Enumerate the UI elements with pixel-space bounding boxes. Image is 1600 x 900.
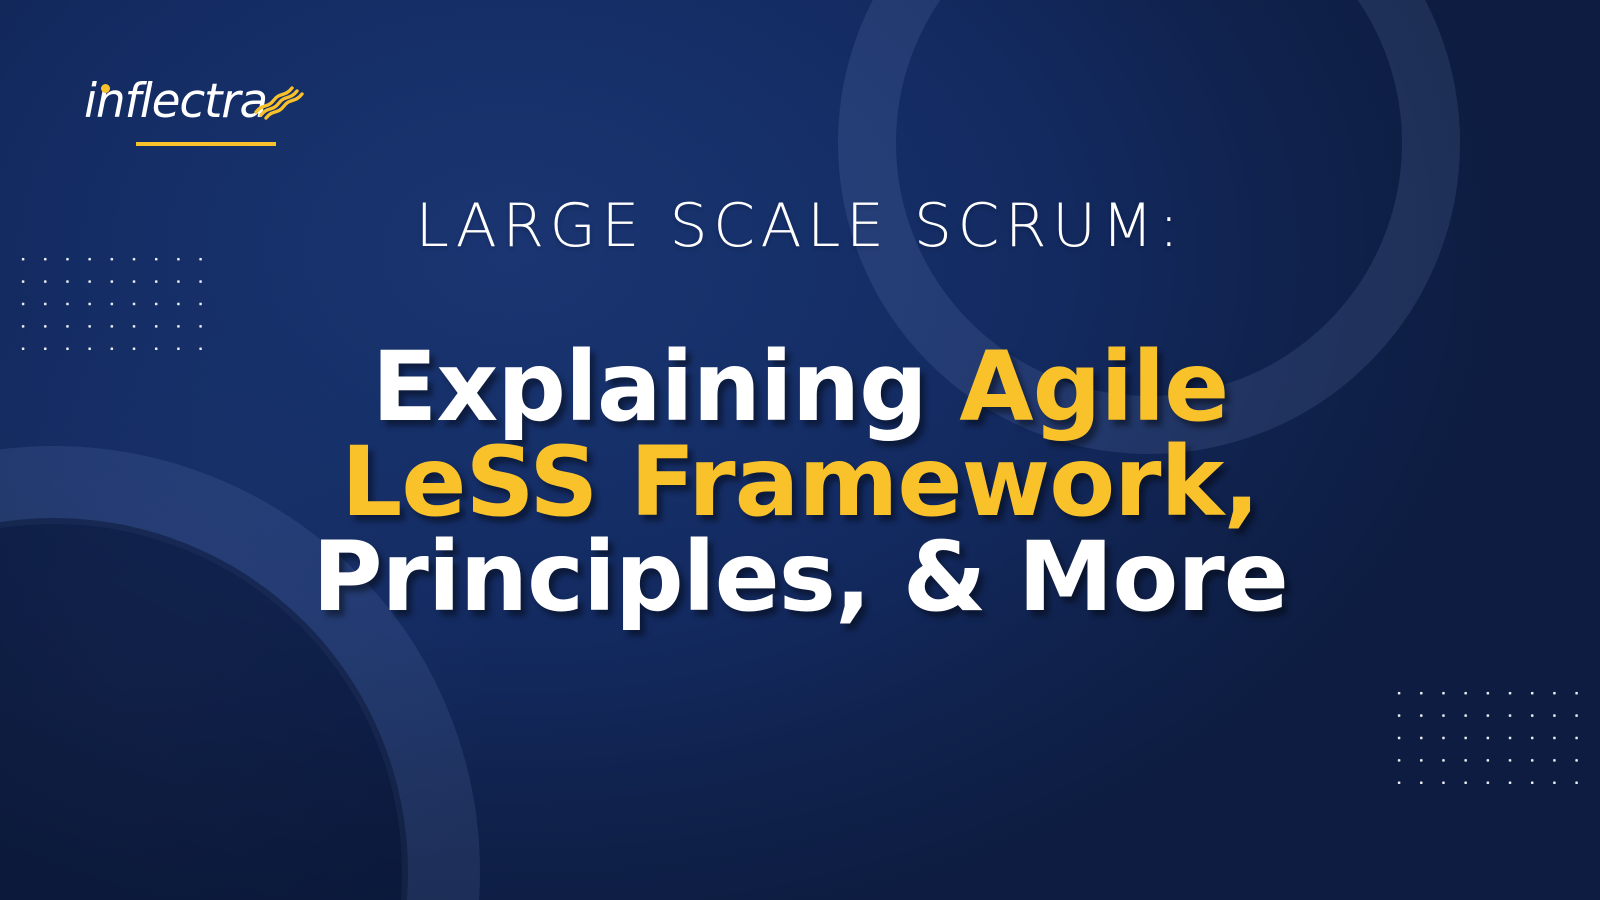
headline-line-1: Explaining Agile	[0, 340, 1600, 435]
headline-line-2: LeSS Framework,	[0, 435, 1600, 530]
logo-dot-accent	[101, 84, 110, 93]
headline-line-3: Principles, & More	[0, 530, 1600, 625]
wave-mark-icon	[252, 76, 304, 120]
dot-grid-pattern-right	[1388, 682, 1578, 800]
inflectra-logo[interactable]: inflectra	[84, 78, 316, 156]
banner-canvas: inflectra LARGE SCALE SCRUM: Explaining …	[0, 0, 1600, 900]
logo-underline-accent	[136, 142, 276, 146]
logo-wordmark: inflectra	[84, 78, 267, 125]
banner-eyebrow-title: LARGE SCALE SCRUM:	[0, 196, 1600, 256]
banner-headline: Explaining Agile LeSS Framework, Princip…	[0, 340, 1600, 625]
